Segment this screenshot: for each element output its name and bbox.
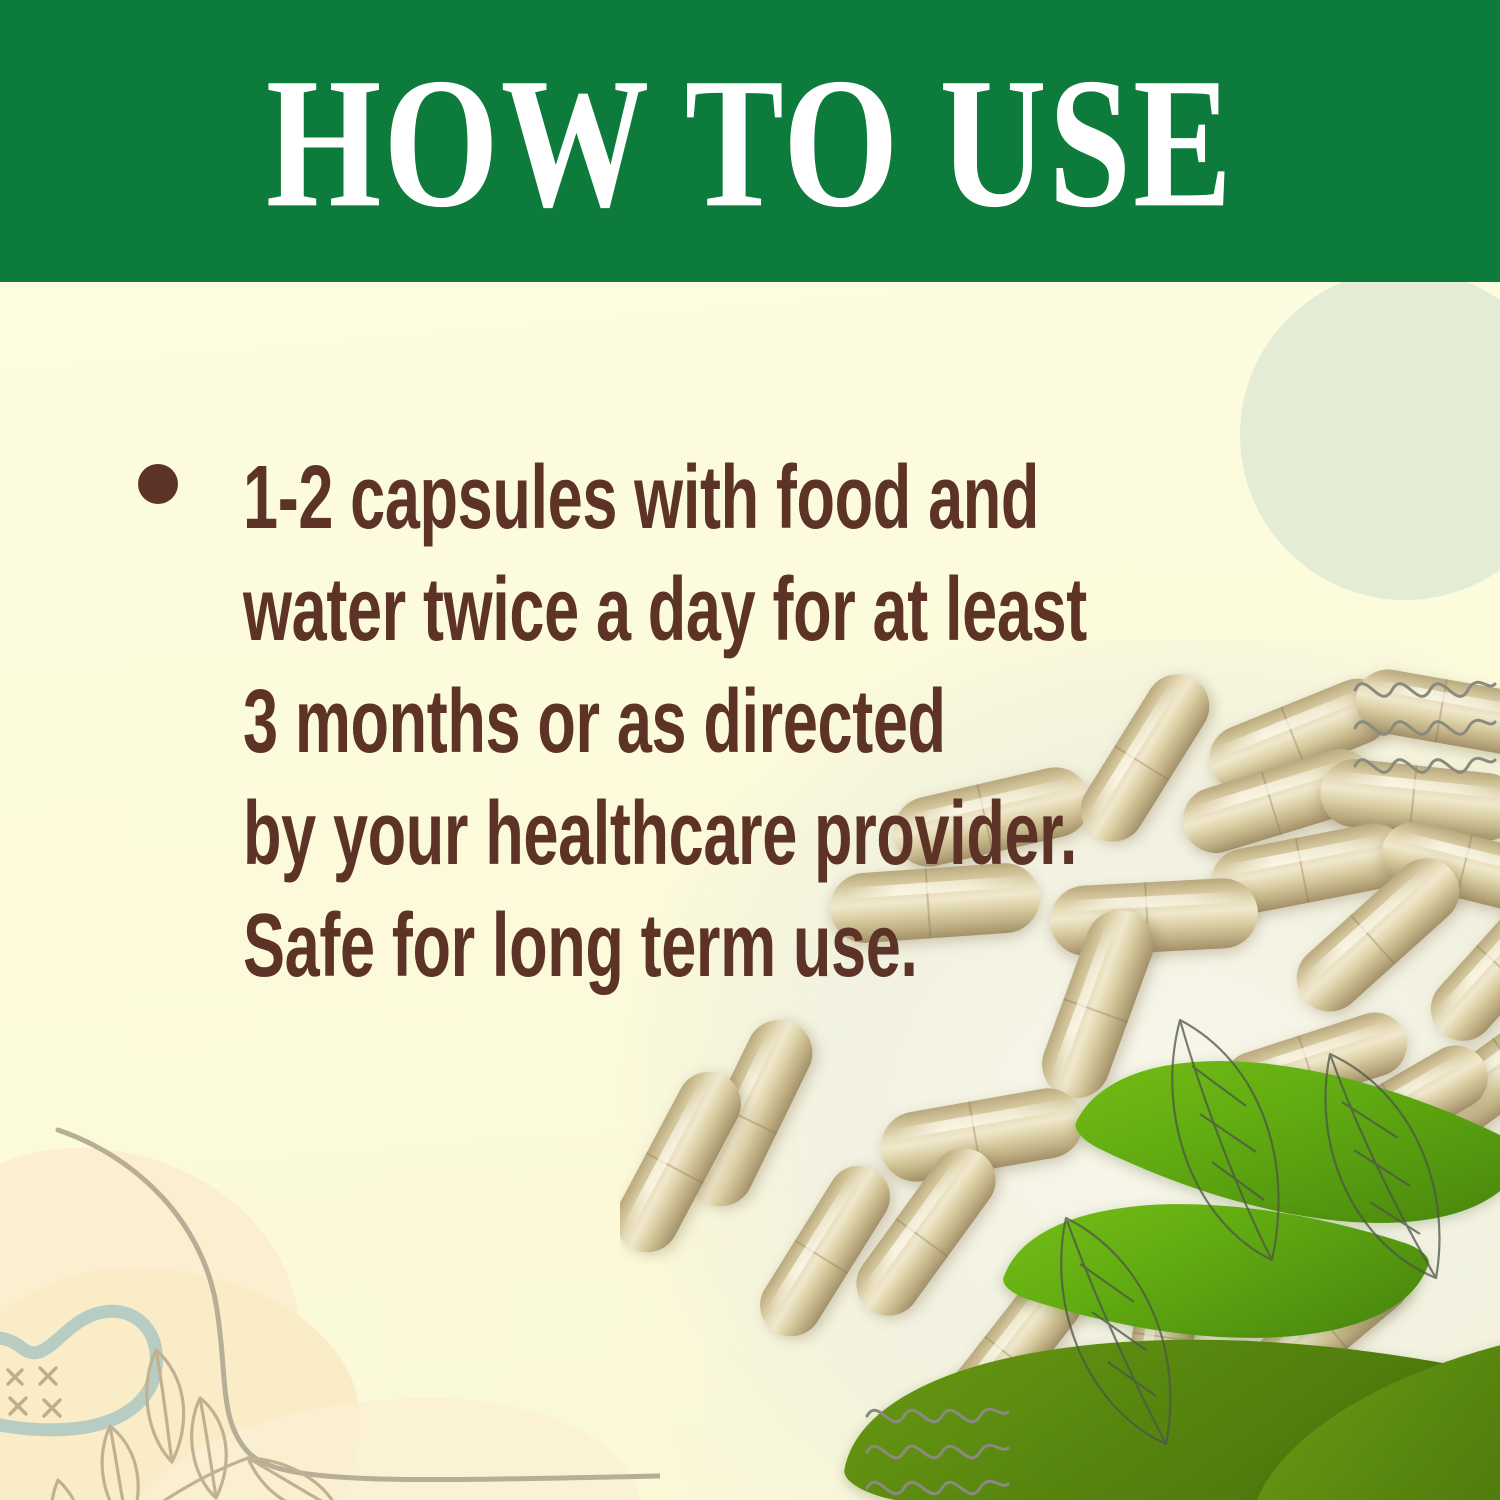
instruction-line: water twice a day for at least xyxy=(243,554,1087,666)
instruction-line: 1-2 capsules with food and xyxy=(243,442,1087,554)
instruction-line: by your healthcare provider. xyxy=(243,778,1087,890)
page-title: HOW TO USE xyxy=(266,51,1234,237)
instruction-text: 1-2 capsules with food and water twice a… xyxy=(243,442,1087,1002)
how-to-use-poster: HOW TO USE 1-2 capsules with food and wa… xyxy=(0,0,1500,1500)
header-banner: HOW TO USE xyxy=(0,0,1500,282)
leaf-line-art-overlay xyxy=(1060,1010,1500,1470)
bullet-dot-icon xyxy=(138,464,178,504)
instruction-bullet-item: 1-2 capsules with food and water twice a… xyxy=(138,442,1449,1002)
instruction-line: Safe for long term use. xyxy=(243,890,1087,1002)
instruction-line: 3 months or as directed xyxy=(243,666,1087,778)
